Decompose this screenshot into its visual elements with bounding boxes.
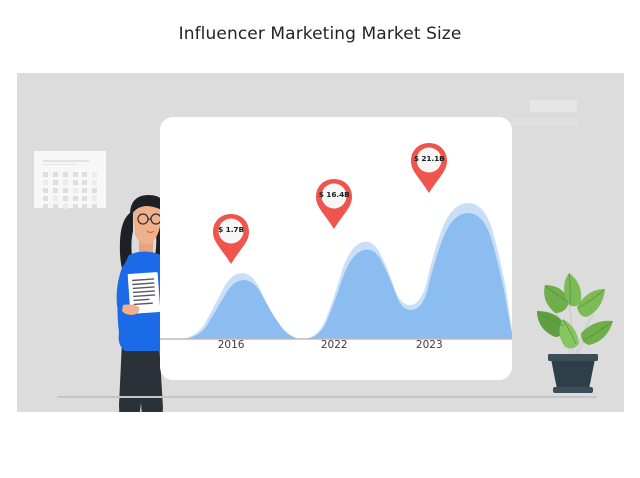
poster-cell: [92, 180, 97, 185]
wall-strip-secondary-icon: [512, 118, 578, 126]
poster-cell: [73, 172, 78, 177]
poster-cell: [53, 172, 58, 177]
poster-cell: [82, 196, 87, 201]
chart-card: 2016 2022 2023 $ 1.7B $ 16.4B $ 21.1B: [160, 117, 512, 380]
poster-cell: [53, 188, 58, 193]
poster-cell: [53, 204, 58, 209]
poster-cell: [63, 196, 68, 201]
x-tick-2016: 2016: [218, 339, 245, 351]
poster-cell: [63, 172, 68, 177]
wall-strip-icon: [530, 100, 577, 112]
marker-2016[interactable]: $ 1.7B: [209, 212, 253, 265]
poster-cell: [82, 172, 87, 177]
poster-cell: [43, 172, 48, 177]
x-tick-2022: 2022: [321, 339, 348, 351]
poster-cell: [73, 196, 78, 201]
poster-cell: [53, 196, 58, 201]
poster-cell: [73, 188, 78, 193]
floor-line: [57, 396, 597, 398]
poster-cell: [43, 204, 48, 209]
poster-cell: [82, 188, 87, 193]
poster-cell: [63, 204, 68, 209]
poster-subheader-line: [43, 164, 77, 165]
poster-cell: [53, 180, 58, 185]
poster-cell: [92, 172, 97, 177]
poster-cell: [82, 204, 87, 209]
poster-cell: [43, 188, 48, 193]
poster-cell: [63, 180, 68, 185]
poster-cell: [73, 204, 78, 209]
marker-2023[interactable]: $ 21.1B: [407, 141, 451, 194]
marker-2022[interactable]: $ 16.4B: [312, 177, 356, 230]
marker-2016-label: $ 1.7B: [209, 225, 253, 234]
potted-plant-illustration: [525, 263, 621, 398]
x-tick-2023: 2023: [416, 339, 443, 351]
poster-cell: [43, 180, 48, 185]
poster-cell: [43, 196, 48, 201]
poster-header-line: [43, 160, 89, 162]
marker-2023-label: $ 21.1B: [407, 154, 451, 163]
marker-2022-label: $ 16.4B: [312, 190, 356, 199]
poster-cell: [63, 188, 68, 193]
page-title: Influencer Marketing Market Size: [0, 24, 640, 44]
poster-cell: [82, 180, 87, 185]
x-axis-labels: 2016 2022 2023: [160, 339, 512, 361]
poster-cell: [73, 180, 78, 185]
